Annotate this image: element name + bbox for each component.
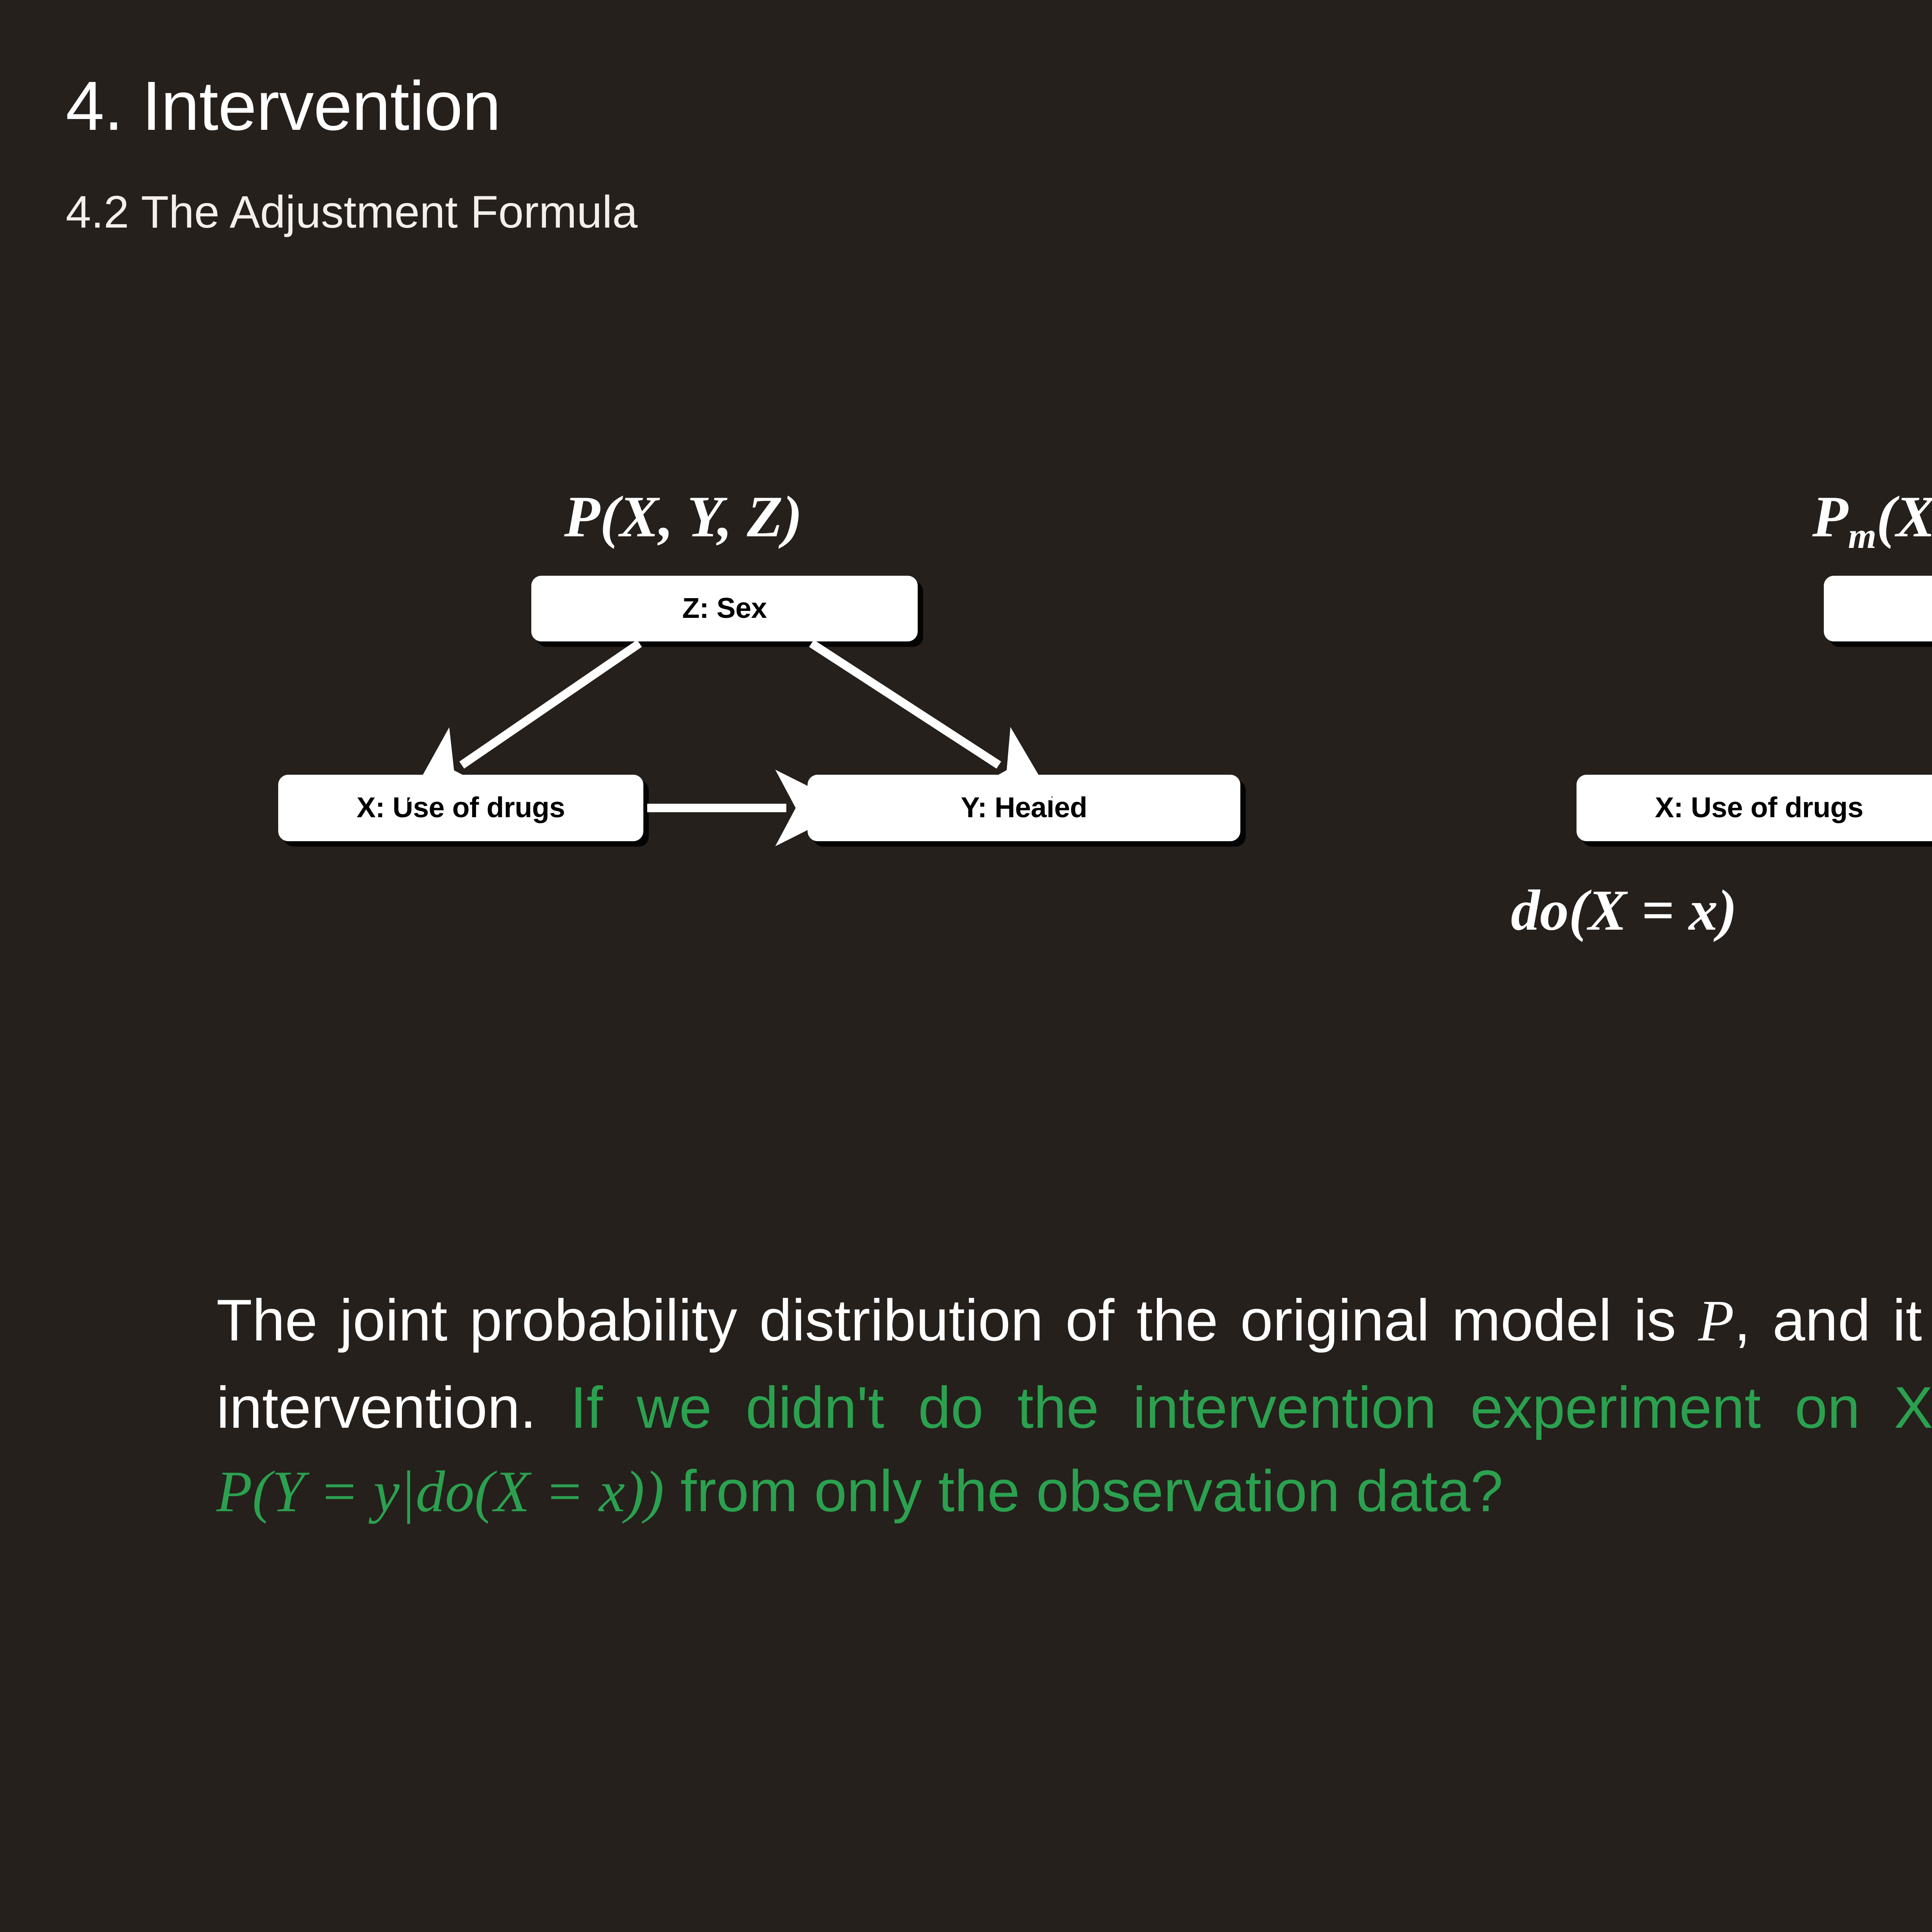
edge-z-to-y	[811, 643, 999, 765]
body-text-part-2: , and it changes to	[1734, 1287, 1932, 1353]
node-label: X: Use of drugs	[1655, 791, 1863, 824]
body-text-part-1: The joint probability distribution of th…	[216, 1287, 1698, 1353]
node-x-use-of-drugs[interactable]: X: Use of drugs	[1577, 775, 1932, 841]
body-green-math: P(Y = y|do(X = x))	[216, 1459, 664, 1524]
caption-symbol: P	[1812, 484, 1848, 549]
caption-args: (X, Y, Z)	[600, 484, 803, 549]
body-green-part-1: If we didn't do the intervention experim…	[570, 1375, 1932, 1440]
caption-symbol: P	[564, 484, 600, 549]
diagram-footnote-do: do(X = x)	[1511, 877, 1737, 944]
diagram-interventional-model: Pm(X, Y, Z) Z: Sex X: Use of drugs Y: He…	[1453, 479, 1932, 1028]
node-z-sex[interactable]: Z: Sex	[1824, 576, 1932, 641]
node-label: X: Use of drugs	[357, 791, 565, 824]
node-label: Z: Sex	[682, 592, 767, 624]
page-subtitle: 4.2 The Adjustment Formula	[66, 189, 638, 235]
caption-subscript: m	[1848, 516, 1876, 556]
diagram-caption-Pm: Pm(X, Y, Z)	[1812, 483, 1932, 557]
node-label: Y: Healed	[961, 791, 1087, 824]
diagram-caption-P: P(X, Y, Z)	[564, 483, 802, 550]
node-z-sex[interactable]: Z: Sex	[531, 576, 918, 641]
diagram-edges	[155, 479, 1352, 981]
node-y-healed[interactable]: Y: Healed	[808, 775, 1240, 841]
body-paragraph: The joint probability distribution of th…	[216, 1279, 1932, 1534]
caption-args: (X, Y, Z)	[1876, 484, 1932, 549]
diagram-edges	[1453, 479, 1932, 1028]
edge-z-to-x	[462, 643, 639, 765]
math-P: P	[1698, 1288, 1734, 1353]
body-green-part-2: from only the observation data?	[664, 1458, 1503, 1524]
page-title: 4. Intervention	[66, 71, 501, 141]
slide-root: 4. Intervention 4.2 The Adjustment Formu…	[0, 0, 1932, 1932]
diagram-observational-model: P(X, Y, Z) Z: Sex X: Use of drugs Y: Hea…	[155, 479, 1352, 981]
node-x-use-of-drugs[interactable]: X: Use of drugs	[278, 775, 643, 841]
